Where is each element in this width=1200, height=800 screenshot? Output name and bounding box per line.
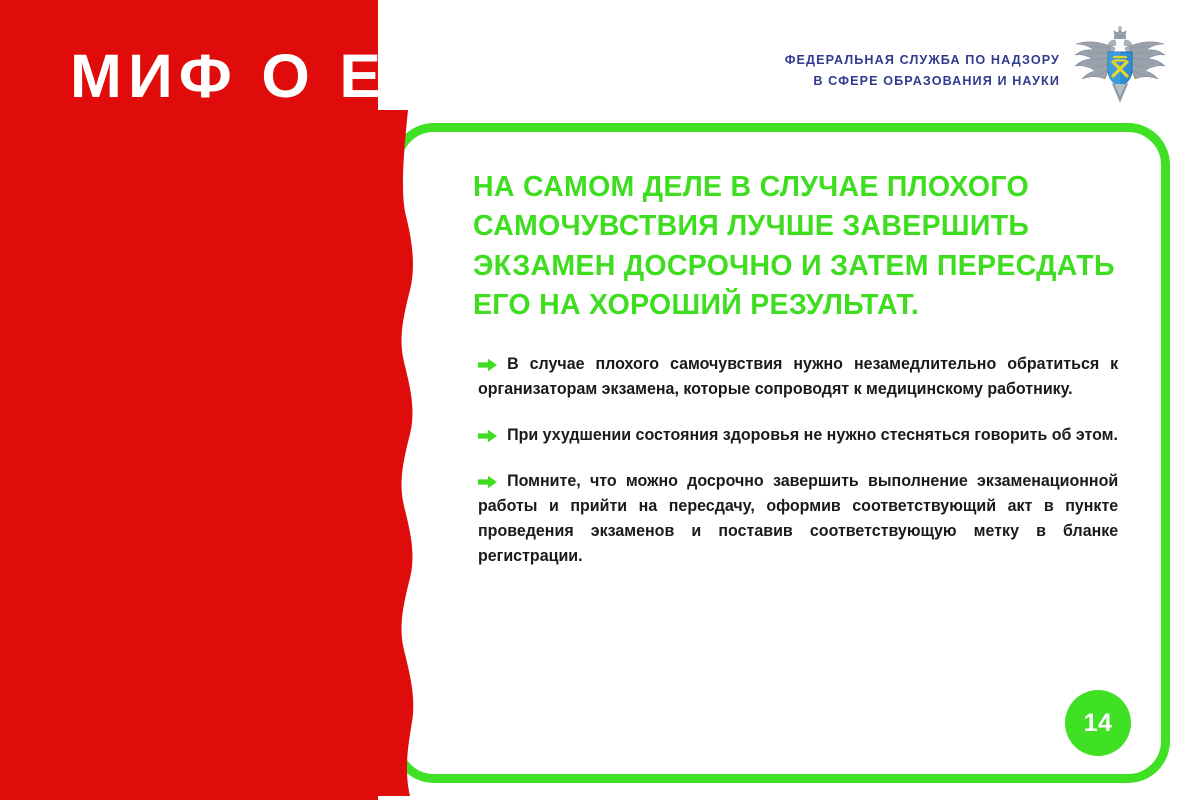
page-number-badge: 14 [1065,690,1131,756]
list-item-text: В случае плохого самочувствия нужно неза… [478,352,1118,402]
list-item-text: При ухудшении состояния здоровья не нужн… [478,423,1118,448]
list-item: В случае плохого самочувствия нужно неза… [478,352,1138,402]
rosobrnadzor-eagle-emblem-icon [1070,26,1170,104]
answer-heading: НА САМОМ ДЕЛЕ В СЛУЧАЕ ПЛОХОГО САМОЧУВСТ… [473,168,1133,325]
answer-heading-line: САМОЧУВСТВИЯ ЛУЧШЕ ЗАВЕРШИТЬ [473,207,1133,246]
org-header-line-1: ФЕДЕРАЛЬНАЯ СЛУЖБА ПО НАДЗОРУ [785,50,1060,71]
organization-header: ФЕДЕРАЛЬНАЯ СЛУЖБА ПО НАДЗОРУ В СФЕРЕ ОБ… [785,50,1060,92]
infographic-poster: МИФ О ЕГЭ «ЕСЛИ НА ЭКЗАМЕНЕ ПОЧУВСТВОВАЛ… [0,0,1200,800]
answer-heading-line: ЭКЗАМЕН ДОСРОЧНО И ЗАТЕМ ПЕРЕСДАТЬ [473,247,1133,286]
answer-bullet-list: В случае плохого самочувствия нужно неза… [478,352,1138,591]
red-myth-panel: МИФ О ЕГЭ «ЕСЛИ НА ЭКЗАМЕНЕ ПОЧУВСТВОВАЛ… [0,0,452,800]
list-item: Помните, что можно досрочно завершить вы… [478,469,1138,569]
doctor-illustration [97,482,397,800]
myth-quote-line: ПОЧУВСТВОВАЛ [62,245,392,285]
myth-quote: «ЕСЛИ НА ЭКЗАМЕНЕ ПОЧУВСТВОВАЛ СЕБЯ ПЛОХ… [62,166,392,443]
answer-heading-line: НА САМОМ ДЕЛЕ В СЛУЧАЕ ПЛОХОГО [473,168,1133,207]
list-item: При ухудшении состояния здоровья не нужн… [478,423,1138,448]
myth-quote-line: ЕГО НУЖНО [62,325,392,365]
doctor-figure-icon [97,482,397,800]
list-item-text: Помните, что можно досрочно завершить вы… [478,469,1118,569]
myth-quote-line: «ЕСЛИ [62,166,392,206]
torn-edge-shape [378,0,452,800]
answer-heading-line: ЕГО НА ХОРОШИЙ РЕЗУЛЬТАТ. [473,286,1133,325]
org-header-line-2: В СФЕРЕ ОБРАЗОВАНИЯ И НАУКИ [785,71,1060,92]
myth-quote-line: ДОПИСАТЬ [62,364,392,404]
myth-quote-line: СЕБЯ ПЛОХО, [62,285,392,325]
myth-quote-line: ЛЮБОЙ ЦЕНОЙ» [62,404,392,444]
myth-quote-line: НА ЭКЗАМЕНЕ [62,206,392,246]
